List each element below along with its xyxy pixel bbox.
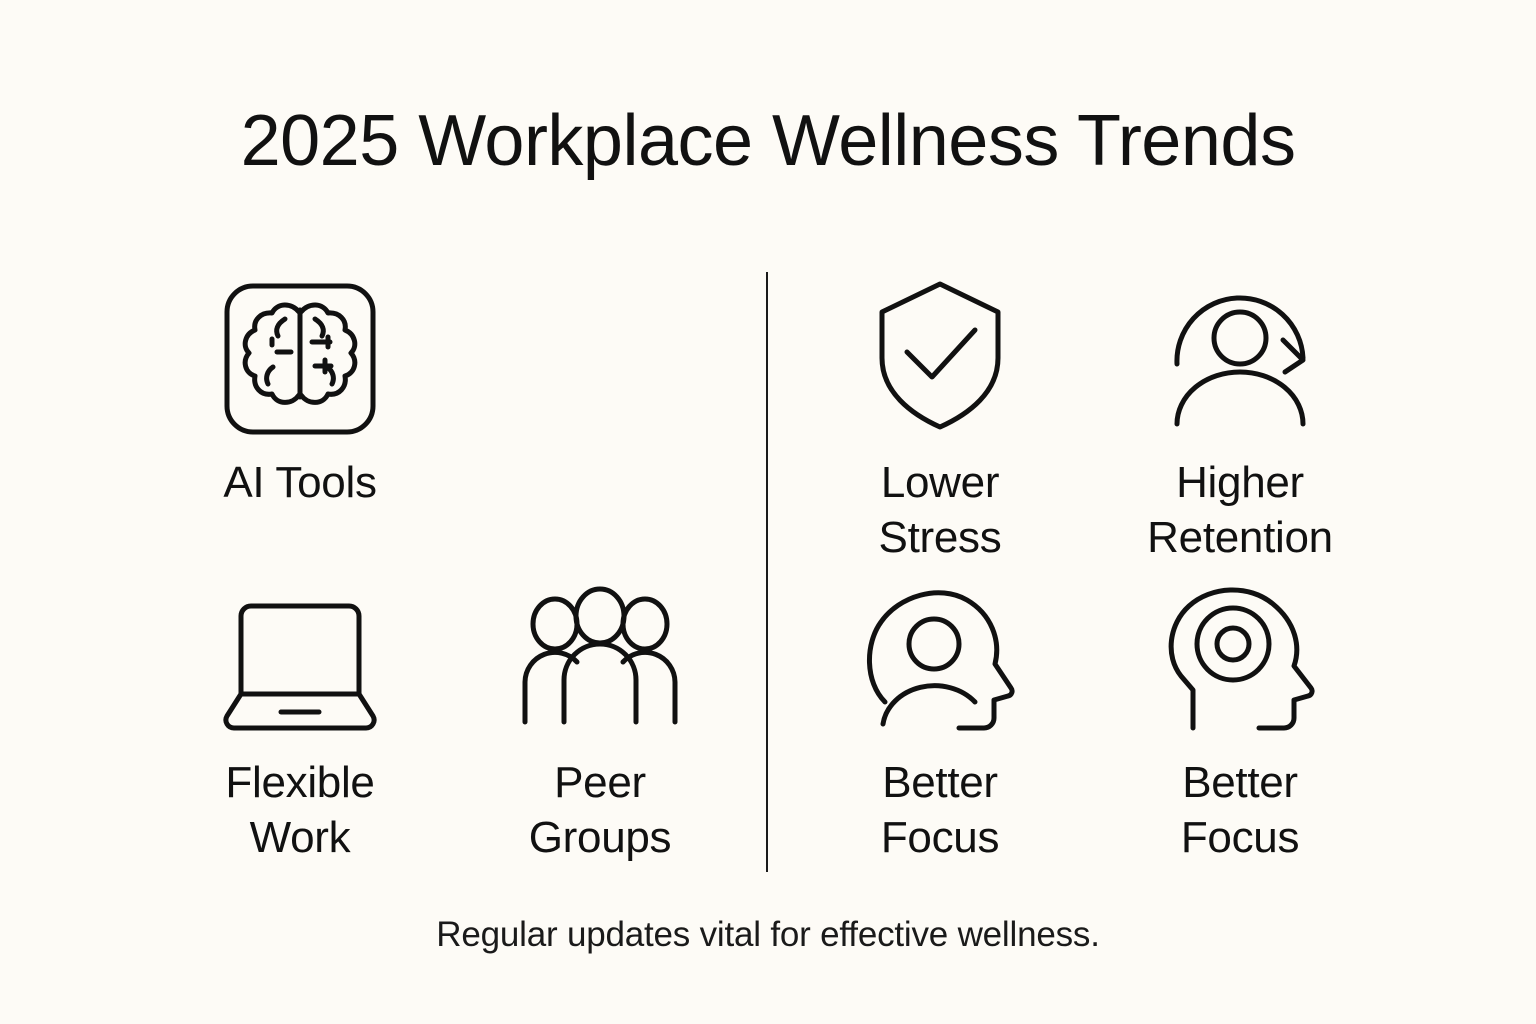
outcome-label: Better Focus bbox=[1181, 755, 1299, 866]
brain-in-rounded-square-icon bbox=[215, 272, 385, 437]
trends-column: AI Tools bbox=[150, 272, 750, 892]
outcome-label: Lower Stress bbox=[879, 455, 1002, 566]
outcomes-column: Lower Stress bbox=[790, 272, 1390, 892]
three-people-group-icon bbox=[515, 572, 685, 737]
outcome-item-higher-retention[interactable]: Higher Retention bbox=[1090, 272, 1390, 572]
trend-label: AI Tools bbox=[223, 455, 376, 510]
head-profile-target-icon bbox=[1155, 572, 1325, 737]
outcome-item-lower-stress[interactable]: Lower Stress bbox=[790, 272, 1090, 572]
trend-label: Peer Groups bbox=[529, 755, 672, 866]
laptop-icon bbox=[215, 572, 385, 737]
person-retention-arrow-icon bbox=[1155, 272, 1325, 437]
vertical-divider bbox=[766, 272, 768, 872]
trend-item-ai-tools[interactable]: AI Tools bbox=[150, 272, 450, 572]
shield-check-icon bbox=[855, 272, 1025, 437]
trend-label: Flexible Work bbox=[225, 755, 374, 866]
footer-note: Regular updates vital for effective well… bbox=[0, 915, 1536, 955]
outcome-label: Higher Retention bbox=[1147, 455, 1333, 566]
head-profile-person-icon bbox=[855, 572, 1025, 737]
outcome-item-better-focus-person[interactable]: Better Focus bbox=[790, 572, 1090, 872]
trend-item-peer-groups[interactable]: Peer Groups bbox=[450, 572, 750, 872]
page-title: 2025 Workplace Wellness Trends bbox=[0, 104, 1536, 180]
outcome-item-better-focus-target[interactable]: Better Focus bbox=[1090, 572, 1390, 872]
infographic-canvas: 2025 Workplace Wellness Trends bbox=[0, 0, 1536, 1024]
outcome-label: Better Focus bbox=[881, 755, 999, 866]
trend-item-flexible-work[interactable]: Flexible Work bbox=[150, 572, 450, 872]
